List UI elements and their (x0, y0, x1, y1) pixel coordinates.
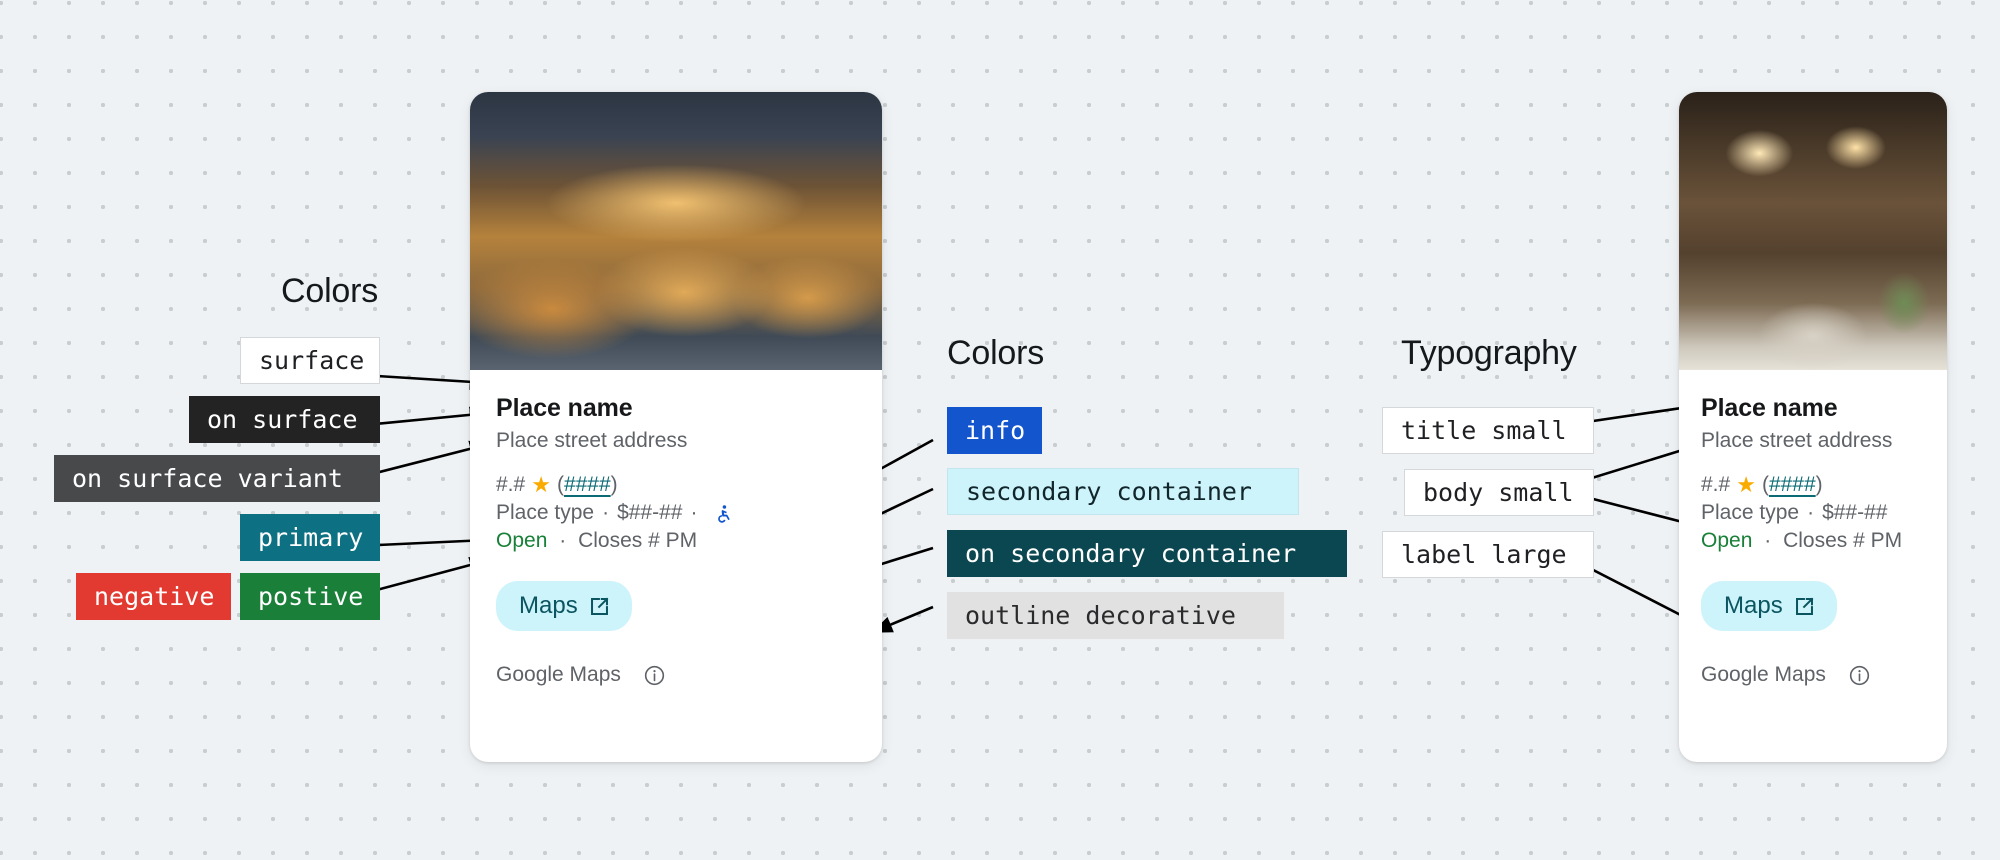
rating-row: #.# ★ (####) (496, 473, 856, 497)
typography-chip-label-large[interactable]: label large (1382, 531, 1594, 578)
place-type-row: Place type · $##-## · (496, 501, 856, 525)
dot-separator: · (1764, 529, 1771, 552)
place-type: Place type (496, 501, 594, 525)
color-chip-on-secondary-container[interactable]: on secondary container (947, 530, 1347, 577)
dot-separator: · (690, 501, 697, 525)
rating-value: #.# (1701, 473, 1730, 497)
price-range: $##-## (617, 501, 682, 525)
color-chip-surface[interactable]: surface (240, 337, 380, 384)
place-card-body: Place name Place street address #.# ★ (#… (1679, 370, 1947, 687)
info-icon[interactable] (1848, 664, 1871, 687)
color-chip-label: negative (94, 584, 214, 609)
place-street-address: Place street address (496, 429, 856, 453)
star-icon: ★ (531, 474, 551, 496)
card-footer: Google Maps (1701, 663, 1933, 687)
color-chip-outline-decorative[interactable]: outline decorative (947, 592, 1284, 639)
color-chip-negative[interactable]: negative (76, 573, 231, 620)
review-count-link[interactable]: #### (1769, 473, 1816, 497)
review-count-link[interactable]: #### (564, 473, 611, 497)
heading-typography: Typography (1401, 334, 1577, 373)
hours-row: Open · Closes # PM (496, 529, 856, 553)
color-chip-label: primary (258, 525, 363, 550)
typography-chip-body-small[interactable]: body small (1404, 469, 1594, 516)
rating-value: #.# (496, 473, 525, 497)
hours-row: Open · Closes # PM (1701, 529, 1933, 553)
paren-open: ( (557, 473, 564, 497)
typography-chip-title-small[interactable]: title small (1382, 407, 1594, 454)
place-name: Place name (496, 394, 856, 423)
cafe-interior-photo (1679, 92, 1947, 370)
color-chip-on-surface[interactable]: on surface (189, 396, 380, 443)
heading-colors-left: Colors (281, 272, 378, 311)
heading-colors-center: Colors (947, 334, 1044, 373)
rating-row: #.# ★ (####) (1701, 473, 1933, 497)
closing-time: Closes # PM (1783, 529, 1902, 552)
place-type: Place type (1701, 501, 1799, 525)
place-card-right[interactable]: Place name Place street address #.# ★ (#… (1679, 92, 1947, 762)
color-chip-secondary-container[interactable]: secondary container (947, 468, 1299, 515)
design-spec-canvas: Colors surface on surface on surface var… (0, 0, 2000, 860)
color-chip-info[interactable]: info (947, 407, 1042, 454)
info-icon[interactable] (643, 664, 666, 687)
open-status: Open (496, 529, 547, 552)
bakery-pastries-photo (470, 92, 882, 370)
color-chip-label: surface (259, 348, 364, 373)
card-footer: Google Maps (496, 663, 856, 687)
star-icon: ★ (1736, 474, 1756, 496)
color-chip-label: info (965, 418, 1025, 443)
color-chip-label: on surface (207, 407, 358, 432)
open-status: Open (1701, 529, 1752, 552)
maps-button-label: Maps (519, 592, 578, 620)
typography-chip-label: label large (1401, 542, 1567, 567)
place-type-row: Place type · $##-## (1701, 501, 1933, 525)
color-chip-primary[interactable]: primary (240, 514, 380, 561)
maps-button[interactable]: Maps (496, 581, 632, 631)
wheelchair-icon (714, 504, 734, 524)
dot-separator: · (1807, 501, 1814, 525)
place-card-left[interactable]: Place name Place street address #.# ★ (#… (470, 92, 882, 762)
place-name: Place name (1701, 394, 1933, 423)
color-chip-postive[interactable]: postive (240, 573, 380, 620)
maps-button[interactable]: Maps (1701, 581, 1837, 631)
footer-attribution: Google Maps (496, 663, 621, 687)
place-card-body: Place name Place street address #.# ★ (#… (470, 370, 882, 687)
dot-separator: · (602, 501, 609, 525)
price-range: $##-## (1822, 501, 1887, 525)
color-chip-label: on surface variant (72, 466, 343, 491)
typography-chip-label: body small (1423, 480, 1574, 505)
typography-chip-label: title small (1401, 418, 1567, 443)
paren-close: ) (611, 473, 618, 497)
dot-separator: · (559, 529, 566, 552)
paren-close: ) (1816, 473, 1823, 497)
footer-attribution: Google Maps (1701, 663, 1826, 687)
external-link-icon (1793, 595, 1816, 618)
color-chip-label: secondary container (966, 479, 1252, 504)
external-link-icon (588, 595, 611, 618)
color-chip-label: postive (258, 584, 363, 609)
maps-button-label: Maps (1724, 592, 1783, 620)
paren-open: ( (1762, 473, 1769, 497)
color-chip-on-surface-variant[interactable]: on surface variant (54, 455, 380, 502)
closing-time: Closes # PM (578, 529, 697, 552)
color-chip-label: outline decorative (965, 603, 1236, 628)
place-street-address: Place street address (1701, 429, 1933, 453)
color-chip-label: on secondary container (965, 541, 1296, 566)
